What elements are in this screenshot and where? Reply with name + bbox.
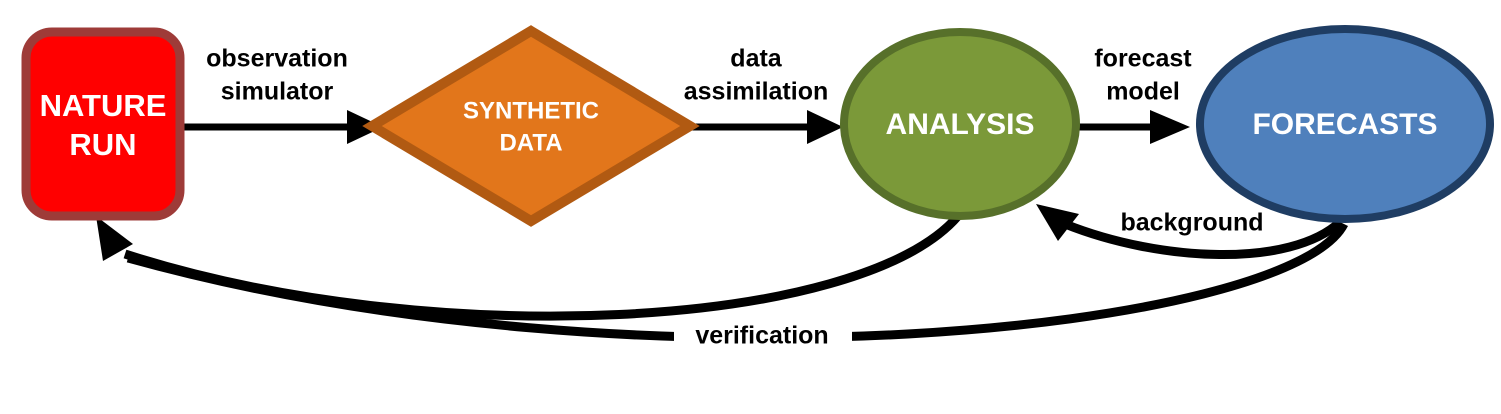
observation-simulator-label-line-2: simulator [221,78,334,106]
edge-label-background: background [1120,209,1263,237]
analysis-label: ANALYSIS [886,108,1035,141]
node-analysis[interactable]: ANALYSIS [844,32,1076,216]
nature-run-label-line-2: RUN [69,127,136,162]
nature-run-label-line-1: NATURE [40,88,167,123]
edge-verification-analysis [96,216,958,316]
verification-analysis-curve [125,216,958,316]
synthetic-data-label-line-2: DATA [499,129,562,156]
synthetic-data-label-line-1: SYNTHETIC [463,97,599,124]
edge-forecast-model [1078,110,1190,144]
synthetic-data-shape[interactable] [372,31,690,221]
node-forecasts[interactable]: FORECASTS [1200,29,1490,219]
observation-simulator-label-line-1: observation [206,45,348,73]
edge-label-observation-simulator: observation simulator [206,45,348,106]
data-assimilation-label-line-2: assimilation [684,78,829,106]
forecasts-label: FORECASTS [1252,108,1437,141]
edge-label-data-assimilation: data assimilation [684,45,829,106]
data-assimilation-label-line-1: data [730,45,783,73]
background-label: background [1120,209,1263,237]
node-synthetic-data[interactable]: SYNTHETIC DATA [372,31,690,221]
edge-observation-simulator [180,110,383,144]
flow-diagram: NATURE RUN SYNTHETIC DATA ANALYSIS FOREC… [0,0,1501,414]
edge-label-verification: verification [674,320,852,354]
forecast-model-label-line-1: forecast [1094,45,1192,73]
verification-label: verification [695,322,828,350]
nature-run-shape[interactable] [26,32,180,216]
diagram-canvas: NATURE RUN SYNTHETIC DATA ANALYSIS FOREC… [0,0,1501,414]
edge-label-forecast-model: forecast model [1094,45,1192,106]
data-assimilation-arrowhead [807,110,843,144]
node-nature-run[interactable]: NATURE RUN [26,32,180,216]
forecast-model-arrowhead [1150,110,1190,144]
forecast-model-label-line-2: model [1106,78,1180,106]
edge-data-assimilation [692,110,843,144]
